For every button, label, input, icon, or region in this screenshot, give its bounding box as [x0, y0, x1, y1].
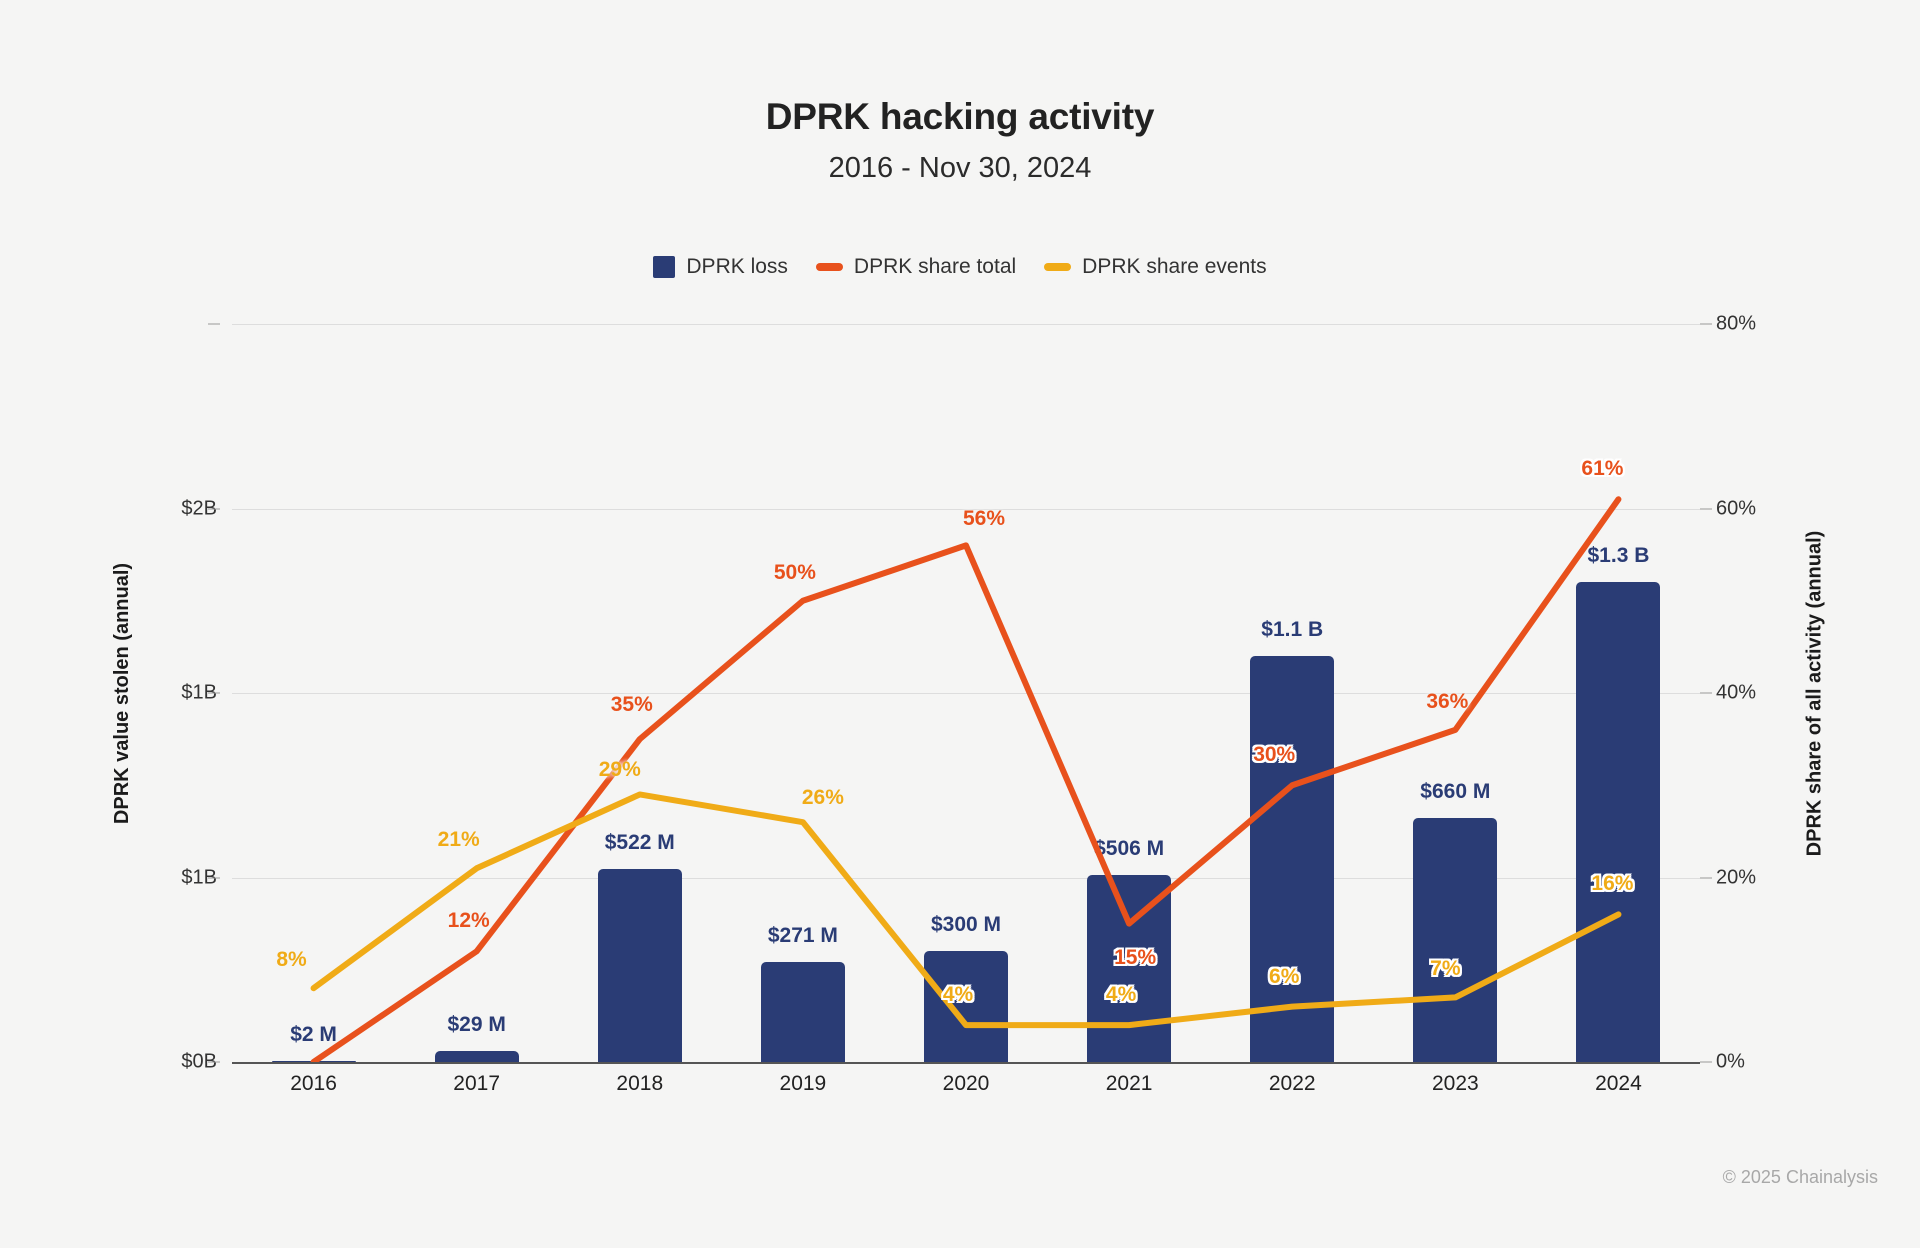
legend-swatch-square-icon: [653, 256, 675, 278]
y-axis-right-tick-mark: [1700, 1062, 1712, 1063]
legend-item-dprk-share-events[interactable]: DPRK share events: [1044, 255, 1266, 279]
legend-swatch-line-icon: [1044, 263, 1071, 271]
x-axis-tick-label: 2016: [290, 1072, 337, 1096]
bar[interactable]: [1250, 656, 1334, 1062]
bar-value-label: $300 M: [931, 913, 1001, 937]
y-axis-left-tick-mark: [208, 1062, 220, 1063]
x-axis-tick-label: 2018: [616, 1072, 663, 1096]
chart-legend: DPRK loss DPRK share total DPRK share ev…: [0, 255, 1920, 279]
line-point-value-label: 4%: [1106, 983, 1136, 1007]
line-point-value-label: 4%: [943, 983, 973, 1007]
y-axis-left-tick-mark: [208, 693, 220, 694]
line-point-value-label: 36%: [1426, 690, 1468, 714]
y-axis-right-tick-label: 80%: [1716, 313, 1836, 336]
y-axis-left-tick-label: $1B: [97, 682, 217, 705]
y-axis-left-tick-label: $2B: [97, 497, 217, 520]
legend-item-dprk-loss[interactable]: DPRK loss: [653, 255, 788, 279]
y-axis-right-tick-mark: [1700, 877, 1712, 878]
y-axis-left-tick-mark: [208, 324, 220, 325]
line-point-value-label: 35%: [611, 693, 653, 717]
line-point-value-label: 7%: [1430, 957, 1460, 981]
legend-swatch-line-icon: [816, 263, 843, 271]
bar-value-label: $1.1 B: [1261, 618, 1323, 642]
x-axis-tick-label: 2023: [1432, 1072, 1479, 1096]
bar[interactable]: [761, 962, 845, 1062]
y-axis-right-tick-label: 0%: [1716, 1051, 1836, 1074]
y-axis-left-tick-mark: [208, 877, 220, 878]
plot-area: $2 M$29 M$522 M$271 M$300 M$506 M$1.1 B$…: [232, 324, 1700, 1062]
x-axis-tick-label: 2019: [780, 1072, 827, 1096]
bars-group: $2 M$29 M$522 M$271 M$300 M$506 M$1.1 B$…: [232, 324, 1700, 1062]
line-point-value-label: 12%: [448, 909, 490, 933]
y-axis-right-tick-label: 40%: [1716, 682, 1836, 705]
line-point-value-label: 50%: [774, 561, 816, 585]
bar-value-label: $660 M: [1420, 780, 1490, 804]
bar[interactable]: [1413, 818, 1497, 1062]
line-point-value-label: 8%: [276, 948, 306, 972]
x-axis-tick-label: 2021: [1106, 1072, 1153, 1096]
bar-value-label: $522 M: [605, 831, 675, 855]
line-point-value-label: 30%: [1253, 743, 1295, 767]
y-axis-left-tick-label: $1B: [97, 866, 217, 889]
gridline: [232, 1062, 1700, 1064]
line-point-value-label: 61%: [1581, 457, 1623, 481]
bar[interactable]: [598, 869, 682, 1062]
line-point-value-label: 29%: [599, 758, 641, 782]
chart-title: DPRK hacking activity: [0, 96, 1920, 138]
bar-value-label: $29 M: [447, 1013, 505, 1037]
legend-label: DPRK loss: [686, 255, 788, 279]
bar[interactable]: [1576, 582, 1660, 1062]
x-axis-tick-label: 2022: [1269, 1072, 1316, 1096]
x-axis-tick-label: 2017: [453, 1072, 500, 1096]
y-axis-left-tick-label: $0B: [97, 1051, 217, 1074]
x-axis-tick-label: 2020: [943, 1072, 990, 1096]
line-point-value-label: 16%: [1591, 872, 1633, 896]
x-axis-tick-label: 2024: [1595, 1072, 1642, 1096]
chart-page: DPRK hacking activity 2016 - Nov 30, 202…: [0, 0, 1920, 1248]
bar-value-label: $271 M: [768, 924, 838, 948]
legend-label: DPRK share total: [854, 255, 1016, 279]
line-point-value-label: 26%: [802, 786, 844, 810]
y-axis-left-tick-mark: [208, 508, 220, 509]
y-axis-right-tick-label: 60%: [1716, 497, 1836, 520]
bar[interactable]: [272, 1061, 356, 1062]
line-point-value-label: 21%: [438, 828, 480, 852]
chart-subtitle: 2016 - Nov 30, 2024: [0, 152, 1920, 185]
bar[interactable]: [435, 1051, 519, 1062]
bar-value-label: $506 M: [1094, 837, 1164, 861]
y-axis-right-tick-mark: [1700, 508, 1712, 509]
legend-item-dprk-share-total[interactable]: DPRK share total: [816, 255, 1016, 279]
y-axis-right-tick-mark: [1700, 324, 1712, 325]
line-point-value-label: 56%: [963, 507, 1005, 531]
y-axis-right-tick-mark: [1700, 693, 1712, 694]
line-point-value-label: 15%: [1114, 946, 1156, 970]
legend-label: DPRK share events: [1082, 255, 1266, 279]
line-point-value-label: 6%: [1269, 965, 1299, 989]
bar-value-label: $2 M: [290, 1023, 337, 1047]
bar-value-label: $1.3 B: [1588, 544, 1650, 568]
y-axis-right-tick-label: 20%: [1716, 866, 1836, 889]
footer-copyright: © 2025 Chainalysis: [1723, 1167, 1878, 1188]
